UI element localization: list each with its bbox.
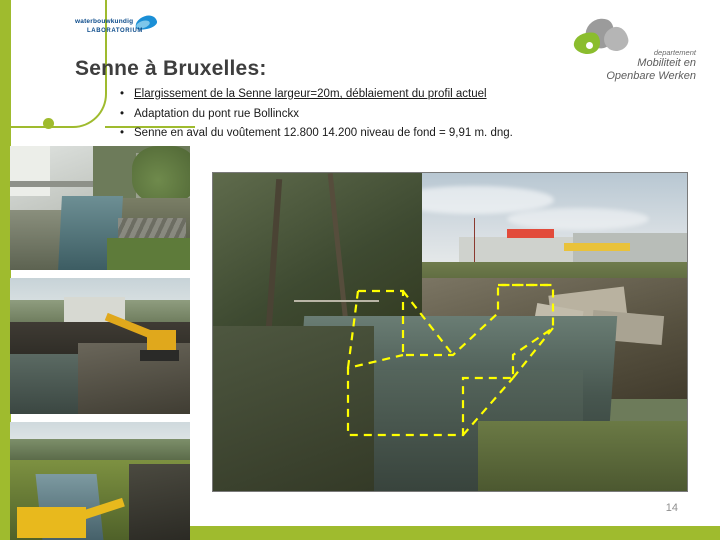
photo-canal-between-buildings bbox=[10, 146, 190, 270]
accent-dot bbox=[43, 118, 54, 129]
logo-right-line3: Openbare Werken bbox=[566, 70, 696, 82]
bullet-item-2-text: Adaptation du pont rue Bollinckx bbox=[134, 108, 299, 120]
photo-excavator-bank-works bbox=[10, 278, 190, 414]
bullet-item-2: Adaptation du pont rue Bollinckx bbox=[120, 107, 640, 122]
bullet-item-1-text: Elargissement de la Senne largeur=20m, d… bbox=[134, 88, 487, 100]
waterbouwkundig-laboratorium-logo: waterbouwkundig LABORATORIUM bbox=[75, 16, 159, 46]
treeline bbox=[10, 439, 190, 463]
logo-left-line2: LABORATORIUM bbox=[87, 28, 143, 34]
logo-right-line2: Mobiliteit en bbox=[566, 57, 696, 69]
excavator-cab bbox=[147, 330, 176, 352]
page-title: Senne à Bruxelles: bbox=[75, 57, 267, 81]
profile-diagonal-left bbox=[403, 291, 453, 355]
earthworks bbox=[129, 464, 190, 540]
profile-left-edge bbox=[348, 291, 358, 368]
page-number: 14 bbox=[666, 502, 678, 514]
logo-right-line1: departement bbox=[566, 48, 696, 57]
photo-senne-widening-profile bbox=[212, 172, 688, 492]
profile-diagonal-foreground bbox=[463, 378, 513, 435]
building-roof bbox=[10, 181, 93, 187]
profile-polyline bbox=[348, 285, 553, 435]
bullet-item-1: Elargissement de la Senne largeur=20m, d… bbox=[120, 87, 640, 102]
proposed-profile-outline bbox=[213, 173, 687, 491]
slide: waterbouwkundig LABORATORIUM departement… bbox=[0, 0, 720, 540]
bullet-list: Elargissement de la Senne largeur=20m, d… bbox=[120, 87, 640, 146]
profile-diagonal-right bbox=[513, 328, 553, 378]
grass-strip bbox=[107, 238, 190, 270]
tree-canopy bbox=[132, 146, 190, 203]
bullet-item-3: Senne en aval du voûtement 12.800 14.200… bbox=[120, 126, 640, 141]
bullet-item-3-text: Senne en aval du voûtement 12.800 14.200… bbox=[134, 127, 513, 139]
excavator-tracks bbox=[140, 350, 180, 361]
logo-left-line1: waterbouwkundig bbox=[75, 18, 133, 25]
building-left-upper bbox=[10, 146, 50, 196]
mobiliteit-openbare-werken-logo: departement Mobiliteit en Openbare Werke… bbox=[566, 20, 696, 82]
photo-excavator-stream bbox=[10, 422, 190, 540]
excavator-body bbox=[17, 507, 85, 538]
